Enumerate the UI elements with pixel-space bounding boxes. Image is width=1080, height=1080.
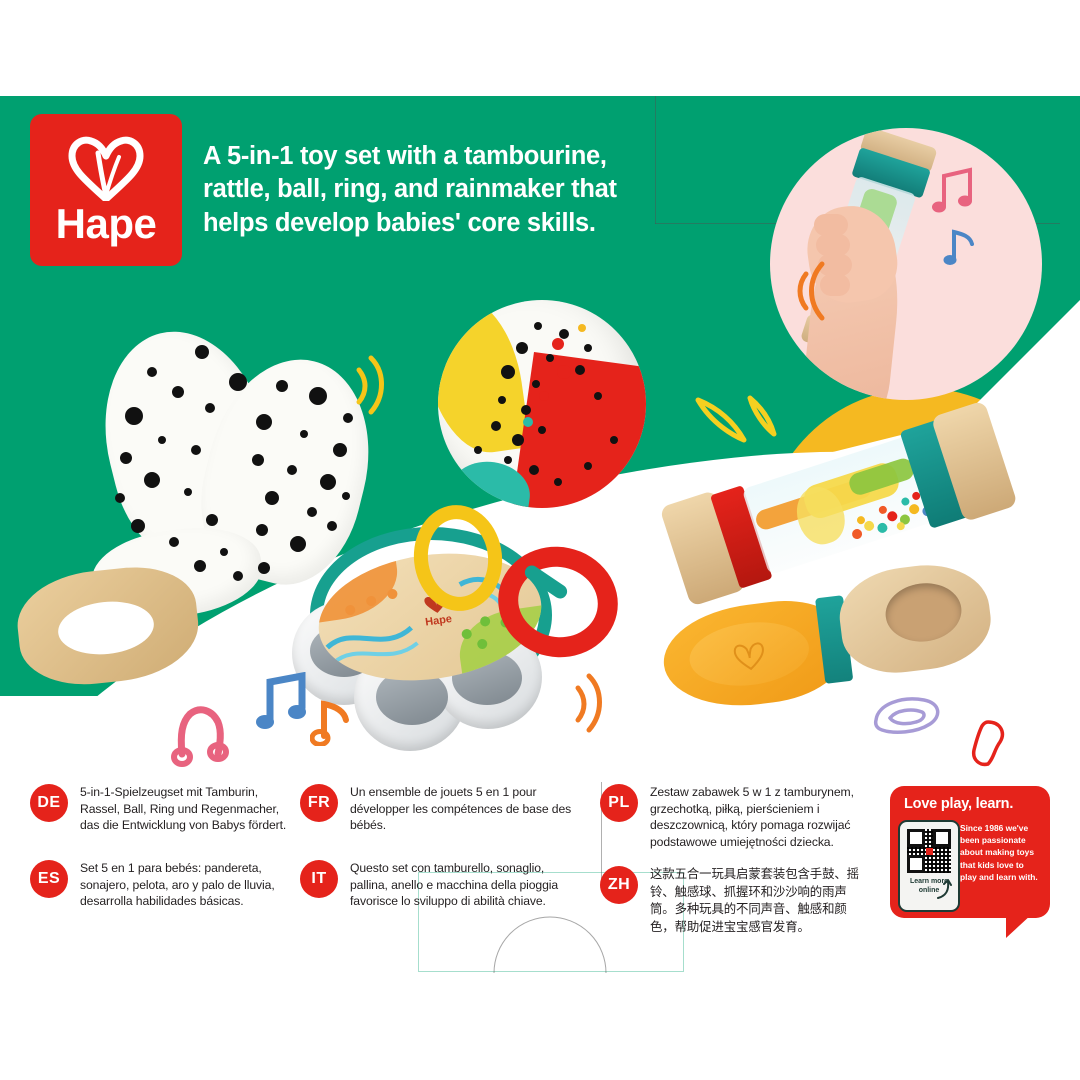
language-text-pl: Zestaw zabawek 5 w 1 z tamburynem, grzec… xyxy=(650,784,868,850)
rattle-embossed-hape-logo xyxy=(726,636,774,673)
language-badge-pl: PL xyxy=(600,784,638,822)
hape-logo: Hape xyxy=(30,114,182,266)
qr-center-logo xyxy=(926,848,933,855)
music-note-orange-icon xyxy=(310,696,352,746)
language-text-fr: Un ensemble de jouets 5 en 1 pour dévelo… xyxy=(350,784,578,834)
promo-title: Love play, learn. xyxy=(904,796,1013,812)
doodle-purple-blob-icon xyxy=(868,690,944,740)
speech-bubble-tail xyxy=(1006,914,1032,938)
arrow-icon xyxy=(936,878,952,900)
language-block-de: DE 5-in-1-Spielzeugset mit Tamburin, Ras… xyxy=(30,784,296,834)
hape-wordmark: Hape xyxy=(56,203,157,245)
ball-polka-dots xyxy=(438,300,646,508)
language-block-es: ES Set 5 en 1 para bebés: pandereta, son… xyxy=(30,860,296,910)
language-badge-es: ES xyxy=(30,860,68,898)
hape-heart-leaf-icon xyxy=(64,135,148,201)
doodle-red-blob-icon xyxy=(962,716,1014,770)
language-badge-it: IT xyxy=(300,860,338,898)
qr-code[interactable] xyxy=(907,829,951,873)
language-badge-fr: FR xyxy=(300,784,338,822)
sound-wave-yellow-icon xyxy=(355,352,401,418)
language-block-it: IT Questo set con tamburello, sonaglio, … xyxy=(300,860,578,910)
language-block-pl: PL Zestaw zabawek 5 w 1 z tamburynem, gr… xyxy=(600,784,868,850)
qr-eye-bl xyxy=(907,855,925,873)
qr-eye-tr xyxy=(933,829,951,847)
headline-text: A 5-in-1 toy set with a tambourine, ratt… xyxy=(203,140,673,240)
language-block-fr: FR Un ensemble de jouets 5 en 1 pour dév… xyxy=(300,784,578,834)
inset-finger xyxy=(814,214,848,236)
promo-body: Since 1986 we've been passionate about m… xyxy=(960,822,1042,883)
language-text-es: Set 5 en 1 para bebés: pandereta, sonaje… xyxy=(80,860,296,910)
language-block-zh: ZH 这款五合一玩具启蒙套装包含手鼓、摇铃、触感球、抓握环和沙沙响的雨声筒。多种… xyxy=(600,866,868,936)
sound-wave-orange-icon xyxy=(575,670,621,736)
inset-photo-baby-hand-rainmaker xyxy=(770,128,1042,400)
language-text-it: Questo set con tamburello, sonaglio, pal… xyxy=(350,860,578,910)
music-note-pink-icon xyxy=(930,166,976,214)
language-text-zh: 这款五合一玩具启蒙套装包含手鼓、摇铃、触感球、抓握环和沙沙响的雨声筒。多种玩具的… xyxy=(650,866,868,936)
music-note-blue-icon xyxy=(942,226,976,266)
qr-eye-tl xyxy=(907,829,925,847)
doodle-yellow-leaf-icon xyxy=(690,392,786,454)
inset-finger xyxy=(816,234,850,256)
sound-wave-orange-icon xyxy=(792,258,836,324)
smartphone-icon: Learn more online xyxy=(898,820,960,912)
language-text-de: 5-in-1-Spielzeugset mit Tamburin, Rassel… xyxy=(80,784,296,834)
promo-speech-bubble: Love play, learn. Since 1986 we've been … xyxy=(890,786,1050,918)
product-packaging-page: Hape A 5-in-1 toy set with a tambourine,… xyxy=(0,0,1080,1080)
music-note-pink-icon xyxy=(168,700,234,768)
toy-fabric-polka-dot-ball xyxy=(438,300,646,508)
language-badge-zh: ZH xyxy=(600,866,638,904)
language-badge-de: DE xyxy=(30,784,68,822)
music-note-blue-icon xyxy=(254,672,312,732)
